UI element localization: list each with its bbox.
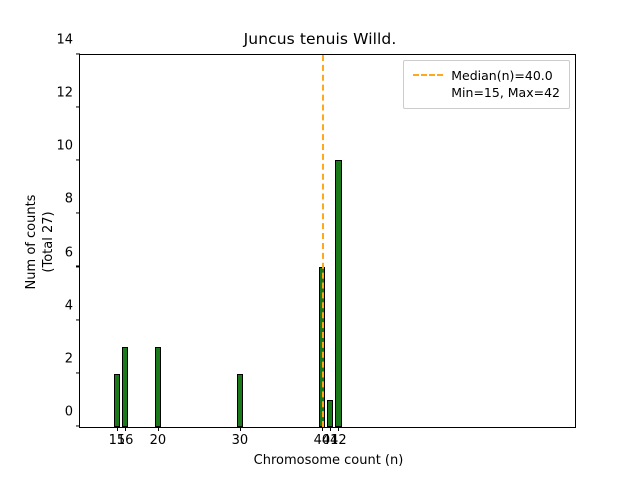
y-tick-label-6: 6	[65, 245, 80, 260]
x-tick-mark	[338, 427, 339, 431]
bar-n-42	[335, 160, 342, 427]
x-tick-mark	[240, 427, 241, 431]
y-tick-label-10: 10	[56, 139, 80, 154]
y-axis-label-total: (Total 27)	[41, 211, 56, 272]
median-line	[322, 55, 324, 427]
y-tick-label-4: 4	[65, 298, 80, 313]
y-tick-label-8: 8	[65, 192, 80, 207]
legend-range-label: Min=15, Max=42	[451, 84, 560, 101]
plot-area: Num of counts (Total 27) 0 2 4 6 8 10 12…	[79, 54, 576, 428]
legend-entry-text: Median(n)=40.0 Min=15, Max=42	[451, 67, 560, 101]
y-tick-mark	[76, 425, 80, 426]
legend: Median(n)=40.0 Min=15, Max=42	[403, 60, 570, 109]
y-tick-mark	[76, 107, 80, 108]
y-tick-mark	[76, 266, 80, 267]
x-tick-mark	[330, 427, 331, 431]
x-tick-label-16: 16	[117, 433, 134, 448]
y-tick-mark	[76, 53, 80, 54]
legend-median-label: Median(n)=40.0	[451, 68, 552, 83]
y-tick-mark	[76, 319, 80, 320]
x-tick-mark	[158, 427, 159, 431]
y-tick-label-12: 12	[56, 86, 80, 101]
y-tick-label-2: 2	[65, 351, 80, 366]
bar-n-41	[327, 400, 334, 427]
y-tick-label-0: 0	[65, 405, 80, 420]
bar-n-20	[155, 347, 162, 427]
x-tick-label-20: 20	[150, 433, 167, 448]
y-tick-label-14: 14	[56, 33, 80, 48]
bar-n-15	[114, 374, 121, 427]
x-tick-mark	[125, 427, 126, 431]
x-tick-label-30: 30	[232, 433, 249, 448]
y-axis-label-wrapper: Num of counts (Total 27)	[40, 55, 41, 429]
x-tick-label-42: 42	[330, 433, 347, 448]
y-axis-label-main: Num of counts	[24, 195, 39, 290]
y-tick-mark	[76, 372, 80, 373]
bar-n-30	[237, 374, 244, 427]
x-tick-mark	[117, 427, 118, 431]
chart-title: Juncus tenuis Willd.	[0, 30, 640, 48]
x-axis-label: Chromosome count (n)	[80, 453, 577, 468]
legend-dashed-line-icon	[413, 74, 443, 76]
bar-n-16	[122, 347, 129, 427]
y-tick-mark	[76, 160, 80, 161]
chart-figure: Juncus tenuis Willd. Num of counts (Tota…	[0, 0, 640, 480]
x-tick-mark	[322, 427, 323, 431]
y-axis-label: Num of counts (Total 27)	[23, 195, 57, 290]
y-tick-mark	[76, 213, 80, 214]
